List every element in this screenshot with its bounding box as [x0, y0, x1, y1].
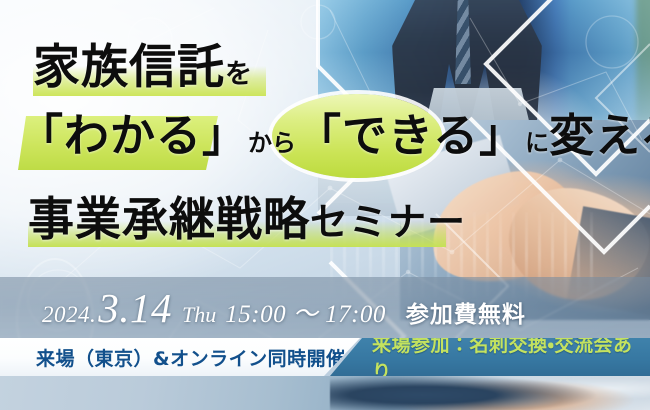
- headline-line3-kanji: 事業承継戦略: [28, 194, 310, 245]
- headline-line-2: 「わかる」から「できる」に変える: [18, 108, 650, 170]
- headline-line1-particle: を: [225, 59, 252, 89]
- date-band: 2024. 3.14 Thu 15:00 ～ 17:00 参加費無料: [0, 277, 650, 338]
- headline-line-3: 事業承継戦略セミナー: [28, 192, 466, 250]
- seminar-banner: 家族信託を 「わかる」から「できる」に変える 事業承継戦略セミナー 2024. …: [0, 0, 650, 410]
- headline-line1-main: 家族信託: [33, 42, 225, 94]
- venue-online-label: 来場（東京）&オンライン同時開催: [36, 344, 346, 371]
- headline-line3-kana: セミナー: [310, 202, 466, 244]
- footer-photo-strip: [0, 376, 650, 410]
- meeting-photo: [330, 376, 650, 410]
- headline-block: 家族信託を 「わかる」から「できる」に変える 事業承継戦略セミナー: [0, 0, 650, 276]
- headline-quote-wakaru: 「わかる」: [18, 108, 248, 164]
- fee-label: 参加費無料: [406, 295, 526, 329]
- bottom-info-bar: 来場（東京）&オンライン同時開催 来場参加：名刺交換・交流会あり: [0, 338, 650, 376]
- onsite-benefit-panel: 来場参加：名刺交換・交流会あり: [330, 338, 650, 376]
- date-time: 15:00 ～ 17:00: [225, 294, 386, 330]
- headline-particle-kara: から: [248, 116, 296, 172]
- headline-particle-ni: に: [525, 116, 549, 172]
- headline-line-1: 家族信託を: [33, 40, 252, 98]
- venue-online-panel: 来場（東京）&オンライン同時開催: [0, 338, 360, 376]
- headline-quote-dekiru: 「できる」: [296, 108, 525, 164]
- date-day: 3.14: [96, 284, 174, 332]
- date-year: 2024.: [42, 302, 96, 328]
- headline-verb-kaeru: 変える: [549, 108, 650, 164]
- date-weekday: Thu: [182, 302, 216, 328]
